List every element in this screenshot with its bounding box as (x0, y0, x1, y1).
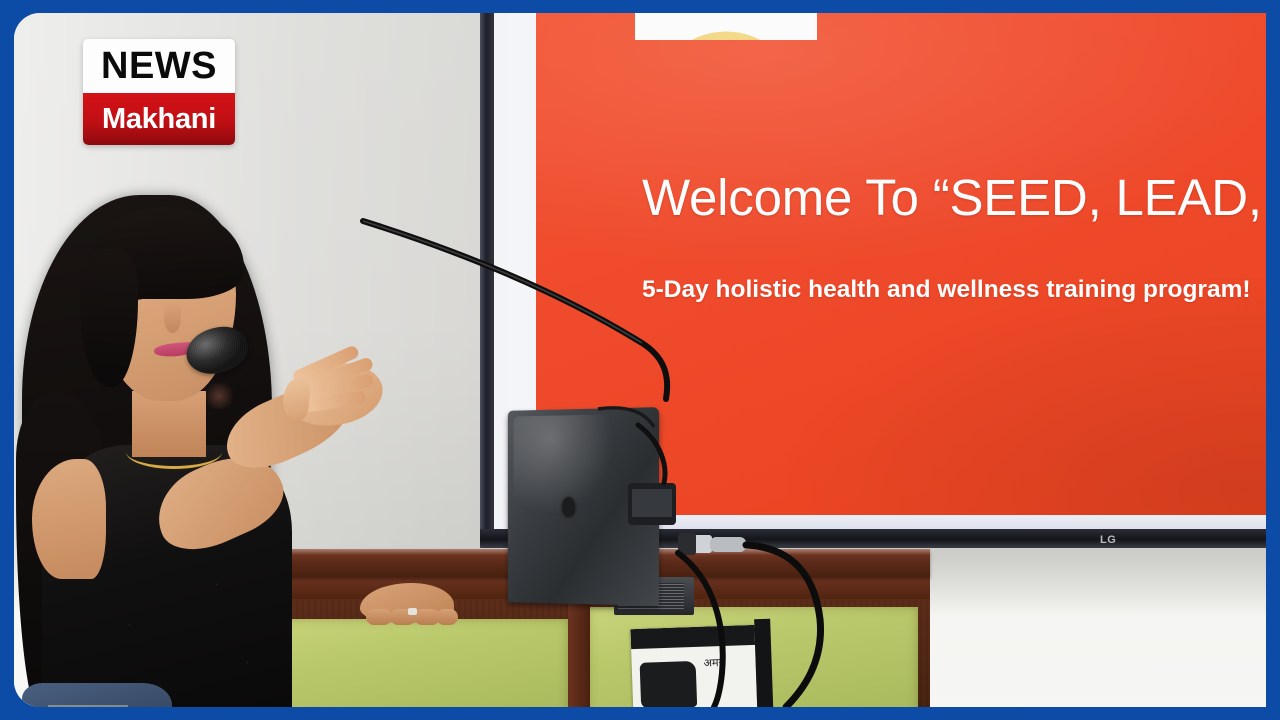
cheek-blush (202, 383, 236, 409)
golden-jubilee-arc-icon (651, 30, 801, 40)
slide-title: Welcome To “SEED, LEAD, (642, 172, 1262, 223)
logo-news-text: NEWS (101, 47, 217, 85)
frame-bottom-edge (0, 707, 1280, 720)
female-speaker (14, 163, 434, 707)
podium-plaque: अमर (630, 625, 757, 707)
lg-brand-logo: LG (1100, 534, 1116, 546)
news-makhani-logo: NEWS Makhani (83, 39, 235, 145)
laptop-brand-mark-icon (562, 497, 575, 517)
finger-ring (408, 608, 417, 615)
frame-right-edge (1266, 0, 1280, 720)
finger (436, 609, 458, 625)
blue-jeans (22, 683, 172, 707)
finger (366, 609, 392, 625)
plaque-text: अमर (703, 656, 723, 670)
laptop-computer[interactable] (506, 409, 658, 604)
display-bezel-left (480, 13, 494, 548)
left-hand-on-podium (360, 583, 464, 637)
nose (164, 303, 181, 333)
golden-jubilee-emblem: GOLDEN JUBILEE (635, 13, 817, 40)
left-shoulder (32, 459, 106, 579)
right-hand-holding-mic (271, 337, 398, 438)
laptop-lid-sheen (514, 414, 641, 536)
logo-bottom-block: Makhani (83, 93, 235, 145)
logo-top-block: NEWS (83, 39, 235, 93)
podium-stile (568, 599, 590, 707)
image-blue-frame: GOLDEN JUBILEE Welcome To “SEED, LEAD, 5… (0, 0, 1280, 720)
plaque-graphic (640, 661, 698, 707)
slide-subtitle: 5-Day holistic health and wellness train… (642, 278, 1251, 303)
laptop-lid (508, 407, 659, 606)
logo-makhani-text: Makhani (102, 105, 216, 134)
plaque-header-bar (630, 625, 755, 649)
